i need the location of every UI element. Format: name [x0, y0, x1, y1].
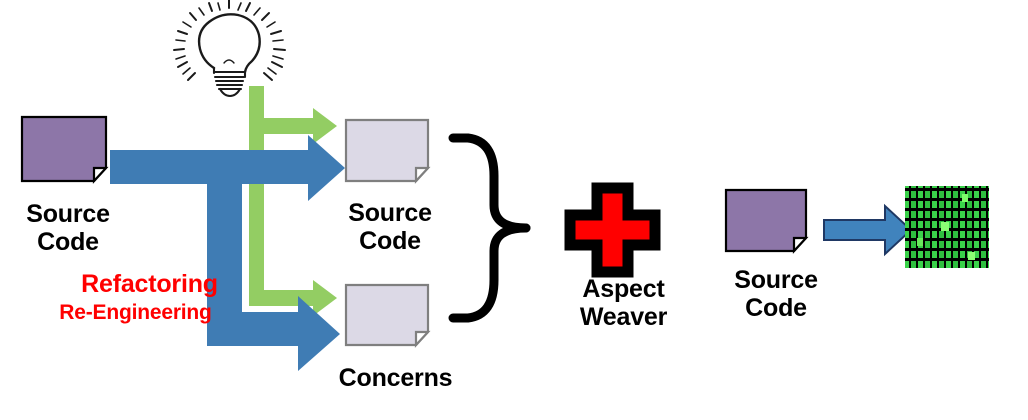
grouping-brace [453, 138, 526, 318]
binary-matrix-icon [905, 186, 989, 268]
diagram-canvas [0, 0, 1028, 420]
plus-cross-icon [570, 188, 655, 272]
compile-arrow [824, 206, 911, 254]
label-re-engineering: Re-Engineering [28, 301, 243, 325]
label-source-code-output: Source Code [325, 199, 455, 255]
label-concerns: Concerns [318, 364, 473, 392]
document-icon-concerns [346, 285, 428, 345]
idea-arrow [249, 86, 337, 316]
label-woven-source-code: Source Code [710, 266, 842, 322]
refactoring-arrow [110, 135, 345, 371]
label-aspect-weaver: Aspect Weaver [556, 275, 691, 331]
lightbulb-icon [174, 0, 285, 96]
document-icon-woven-source [726, 190, 806, 251]
document-icon-source-input [22, 117, 106, 181]
label-refactoring: Refactoring [62, 270, 237, 298]
document-icon-source-output [346, 120, 428, 181]
label-source-code-input: Source Code [2, 200, 134, 256]
aspect-weaving-diagram: Source Code Source Code Concerns Aspect … [0, 0, 1028, 420]
